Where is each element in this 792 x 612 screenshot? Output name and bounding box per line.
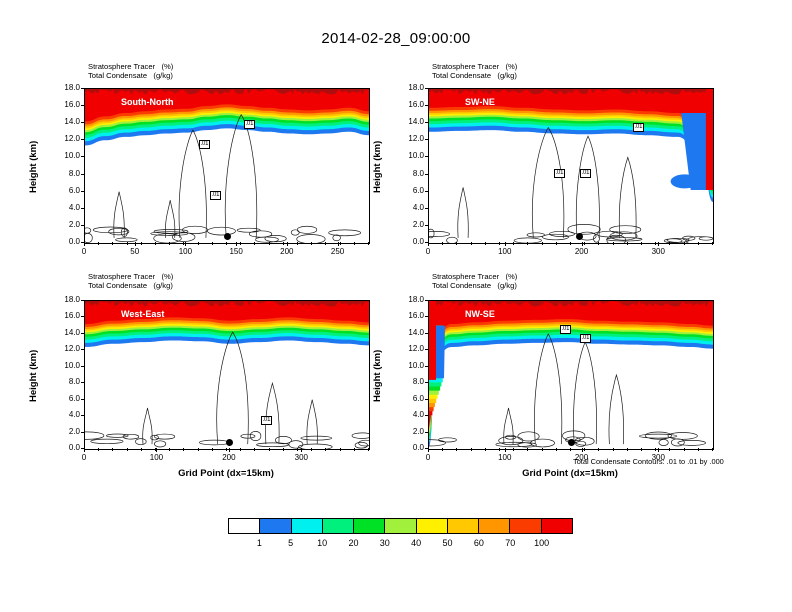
colorbar-label-1: 1 <box>246 538 272 548</box>
x-minor-tick <box>269 242 270 245</box>
contour-value-label: .01 <box>261 416 272 425</box>
orientation-label-west-east: West-East <box>121 309 164 319</box>
y-tick-label: 14.0 <box>390 117 424 126</box>
y-tick-mark <box>81 382 85 383</box>
condensate-contour-tower <box>534 334 561 444</box>
x-minor-tick <box>485 448 486 451</box>
x-minor-tick <box>84 448 85 451</box>
colorbar-label-5: 5 <box>278 538 304 548</box>
x-minor-tick <box>613 242 614 245</box>
y-tick-mark <box>425 191 429 192</box>
x-minor-tick <box>698 242 699 245</box>
y-tick-mark <box>425 333 429 334</box>
x-minor-tick <box>655 448 656 451</box>
y-tick-label: 10.0 <box>390 151 424 160</box>
y-tick-label: 6.0 <box>390 186 424 195</box>
field-label-tracer: Stratosphere Tracer (%) <box>432 62 517 71</box>
x-minor-tick <box>641 448 642 451</box>
low-tracer-pocket <box>671 174 699 188</box>
x-minor-tick <box>155 448 156 451</box>
tracer-field-south-north <box>85 89 369 243</box>
y-tick-mark <box>425 225 429 226</box>
x-tick-label: 100 <box>169 247 201 256</box>
y-tick-label: 18.0 <box>46 295 80 304</box>
y-tick-mark <box>81 88 85 89</box>
y-tick-label: 8.0 <box>46 169 80 178</box>
x-minor-tick <box>442 448 443 451</box>
condensate-contour-low <box>85 226 361 243</box>
x-tick-label: 0 <box>412 453 444 462</box>
colorbar-cell-10 <box>542 519 572 533</box>
y-tick-mark <box>81 122 85 123</box>
x-minor-tick <box>354 242 355 245</box>
contour-interval-note: Total Condensate Contours: .01 to .01 by… <box>573 457 724 466</box>
x-minor-tick <box>368 448 369 451</box>
x-minor-tick <box>712 242 713 245</box>
y-tick-label: 12.0 <box>46 344 80 353</box>
tracer-field-west-east <box>85 301 369 449</box>
colorbar-label-70: 70 <box>497 538 523 548</box>
y-tick-label: 0.0 <box>46 237 80 246</box>
panel-header-south-north: Stratosphere Tracer (%)Total Condensate … <box>88 62 173 81</box>
y-tick-label: 2.0 <box>46 427 80 436</box>
condensate-contour-tower <box>458 187 469 238</box>
colorbar-cell-6 <box>417 519 448 533</box>
colorbar-label-20: 20 <box>341 538 367 548</box>
intrusion-core <box>706 89 713 190</box>
y-tick-label: 0.0 <box>390 443 424 452</box>
y-tick-label: 8.0 <box>390 169 424 178</box>
x-minor-tick <box>584 448 585 451</box>
x-minor-tick <box>183 448 184 451</box>
cross-section-center-marker <box>576 233 583 240</box>
y-tick-label: 10.0 <box>390 361 424 370</box>
y-tick-mark <box>81 349 85 350</box>
colorbar-cell-0 <box>229 519 260 533</box>
x-minor-tick <box>226 448 227 451</box>
condensate-contour-tower <box>576 136 599 238</box>
contour-value-label: .01 <box>633 123 644 132</box>
x-minor-tick <box>513 242 514 245</box>
x-tick-mark <box>287 242 288 246</box>
condensate-contour-tower <box>532 128 564 238</box>
y-tick-label: 16.0 <box>390 100 424 109</box>
y-tick-label: 16.0 <box>46 311 80 320</box>
y-tick-mark <box>81 432 85 433</box>
condensate-contour-tower <box>307 400 318 444</box>
x-minor-tick <box>641 242 642 245</box>
colorbar-label-50: 50 <box>435 538 461 548</box>
y-tick-mark <box>425 415 429 416</box>
y-tick-mark <box>81 174 85 175</box>
y-tick-label: 0.0 <box>46 443 80 452</box>
x-minor-tick <box>112 448 113 451</box>
y-tick-mark <box>425 432 429 433</box>
x-tick-label: 200 <box>271 247 303 256</box>
x-minor-tick <box>556 242 557 245</box>
y-tick-label: 12.0 <box>390 134 424 143</box>
y-tick-mark <box>81 316 85 317</box>
contour-value-label: .01 <box>580 334 591 343</box>
plot-area-south-north: South-North.01.01.01 <box>84 88 370 244</box>
x-minor-tick <box>325 448 326 451</box>
plot-area-west-east: West-East.01 <box>84 300 370 450</box>
x-minor-tick <box>297 242 298 245</box>
tracer-wall-core <box>429 301 436 380</box>
condensate-contour-low <box>429 431 706 447</box>
x-minor-tick <box>527 448 528 451</box>
orientation-label-south-north: South-North <box>121 97 173 107</box>
colorbar-label-10: 10 <box>309 538 335 548</box>
field-label-condensate: Total Condensate (g/kg) <box>432 281 517 290</box>
y-tick-label: 14.0 <box>390 328 424 337</box>
condensate-contour-tower <box>114 192 125 238</box>
condensate-contour-tower <box>165 200 174 238</box>
y-tick-label: 6.0 <box>390 394 424 403</box>
x-tick-label: 50 <box>119 247 151 256</box>
contour-value-label: .01 <box>554 169 565 178</box>
y-tick-label: 10.0 <box>46 361 80 370</box>
condensate-contour-tower <box>609 375 624 444</box>
x-minor-tick <box>112 242 113 245</box>
field-label-condensate: Total Condensate (g/kg) <box>88 281 173 290</box>
field-label-tracer: Stratosphere Tracer (%) <box>88 62 173 71</box>
x-tick-label: 200 <box>213 453 245 462</box>
y-tick-label: 12.0 <box>390 344 424 353</box>
x-minor-tick <box>254 448 255 451</box>
y-axis-title: Height (km) <box>28 141 39 193</box>
condensate-contour-tower <box>265 383 279 444</box>
x-tick-label: 0 <box>68 247 100 256</box>
x-minor-tick <box>325 242 326 245</box>
x-minor-tick <box>354 448 355 451</box>
page-title: 2014-02-28_09:00:00 <box>0 30 792 47</box>
x-minor-tick <box>340 448 341 451</box>
x-minor-tick <box>456 242 457 245</box>
colorbar-cell-3 <box>323 519 354 533</box>
plot-area-nw-se: NW-SE.01.01 <box>428 300 714 450</box>
condensate-contour-tower <box>504 408 513 444</box>
y-axis-title: Height (km) <box>372 350 383 402</box>
y-tick-mark <box>81 415 85 416</box>
colorbar-cell-4 <box>354 519 385 533</box>
colorbar-label-40: 40 <box>403 538 429 548</box>
x-tick-mark <box>658 242 659 246</box>
x-tick-label: 0 <box>68 453 100 462</box>
y-tick-mark <box>81 333 85 334</box>
x-tick-mark <box>582 242 583 246</box>
x-minor-tick <box>584 242 585 245</box>
y-tick-mark <box>425 399 429 400</box>
y-axis-title: Height (km) <box>372 141 383 193</box>
x-minor-tick <box>212 242 213 245</box>
x-minor-tick <box>627 242 628 245</box>
x-tick-mark <box>185 242 186 246</box>
y-tick-mark <box>425 105 429 106</box>
x-minor-tick <box>442 242 443 245</box>
x-tick-mark <box>229 448 230 452</box>
x-tick-label: 100 <box>489 453 521 462</box>
orientation-label-nw-se: NW-SE <box>465 309 495 319</box>
y-tick-mark <box>81 300 85 301</box>
x-tick-mark <box>582 448 583 452</box>
x-axis-title: Grid Point (dx=15km) <box>84 468 368 479</box>
x-minor-tick <box>226 242 227 245</box>
x-minor-tick <box>428 448 429 451</box>
x-tick-mark <box>505 242 506 246</box>
x-minor-tick <box>598 448 599 451</box>
x-minor-tick <box>570 242 571 245</box>
y-tick-label: 4.0 <box>46 410 80 419</box>
x-minor-tick <box>712 448 713 451</box>
x-minor-tick <box>311 448 312 451</box>
colorbar: 1510203040506070100 <box>228 518 573 548</box>
x-minor-tick <box>513 448 514 451</box>
y-tick-mark <box>425 88 429 89</box>
x-minor-tick <box>141 448 142 451</box>
panel-header-nw-se: Stratosphere Tracer (%)Total Condensate … <box>432 272 517 291</box>
cross-section-center-marker <box>224 233 231 240</box>
y-tick-label: 18.0 <box>390 83 424 92</box>
x-minor-tick <box>311 242 312 245</box>
panel-header-sw-ne: Stratosphere Tracer (%)Total Condensate … <box>432 62 517 81</box>
y-tick-mark <box>81 366 85 367</box>
y-tick-label: 2.0 <box>390 220 424 229</box>
x-minor-tick <box>570 448 571 451</box>
y-tick-label: 14.0 <box>46 117 80 126</box>
x-minor-tick <box>169 242 170 245</box>
x-minor-tick <box>542 448 543 451</box>
x-minor-tick <box>283 448 284 451</box>
y-tick-label: 2.0 <box>390 427 424 436</box>
panel-header-west-east: Stratosphere Tracer (%)Total Condensate … <box>88 272 173 291</box>
colorbar-swatches <box>228 518 573 534</box>
colorbar-cell-9 <box>510 519 541 533</box>
colorbar-cell-8 <box>479 519 510 533</box>
orientation-label-sw-ne: SW-NE <box>465 97 495 107</box>
y-tick-mark <box>425 349 429 350</box>
x-minor-tick <box>684 448 685 451</box>
y-tick-mark <box>425 366 429 367</box>
tracer-field-nw-se <box>429 301 713 449</box>
x-minor-tick <box>183 242 184 245</box>
y-tick-mark <box>425 174 429 175</box>
y-tick-label: 6.0 <box>46 186 80 195</box>
x-tick-label: 300 <box>285 453 317 462</box>
y-tick-mark <box>425 139 429 140</box>
x-minor-tick <box>499 448 500 451</box>
y-tick-label: 0.0 <box>390 237 424 246</box>
condensate-contour-tower <box>217 332 249 444</box>
x-minor-tick <box>598 242 599 245</box>
x-minor-tick <box>240 448 241 451</box>
colorbar-cell-7 <box>448 519 479 533</box>
x-minor-tick <box>698 448 699 451</box>
contour-value-label: .01 <box>199 140 210 149</box>
x-tick-mark <box>658 448 659 452</box>
x-minor-tick <box>240 242 241 245</box>
y-tick-label: 4.0 <box>46 203 80 212</box>
y-tick-mark <box>81 208 85 209</box>
colorbar-tick-labels: 1510203040506070100 <box>228 534 573 548</box>
x-tick-label: 300 <box>642 247 674 256</box>
colorbar-cell-2 <box>292 519 323 533</box>
x-minor-tick <box>340 242 341 245</box>
y-tick-label: 10.0 <box>46 151 80 160</box>
x-minor-tick <box>613 448 614 451</box>
field-label-condensate: Total Condensate (g/kg) <box>88 71 173 80</box>
x-minor-tick <box>669 242 670 245</box>
y-tick-label: 16.0 <box>46 100 80 109</box>
y-tick-mark <box>81 105 85 106</box>
field-label-tracer: Stratosphere Tracer (%) <box>432 272 517 281</box>
x-minor-tick <box>499 242 500 245</box>
x-minor-tick <box>198 448 199 451</box>
y-tick-mark <box>425 382 429 383</box>
y-tick-label: 8.0 <box>390 377 424 386</box>
x-minor-tick <box>98 448 99 451</box>
x-minor-tick <box>155 242 156 245</box>
condensate-contour-tower <box>573 342 596 444</box>
x-tick-label: 150 <box>220 247 252 256</box>
condensate-contour-tower <box>225 115 257 238</box>
y-tick-label: 18.0 <box>390 295 424 304</box>
x-tick-label: 0 <box>412 247 444 256</box>
contour-value-label: .01 <box>560 325 571 334</box>
colorbar-cell-5 <box>385 519 416 533</box>
x-minor-tick <box>428 242 429 245</box>
contour-value-label: .01 <box>580 169 591 178</box>
x-tick-label: 200 <box>566 247 598 256</box>
x-minor-tick <box>212 448 213 451</box>
colorbar-label-60: 60 <box>466 538 492 548</box>
colorbar-label-30: 30 <box>372 538 398 548</box>
y-tick-mark <box>425 316 429 317</box>
y-tick-mark <box>81 399 85 400</box>
x-minor-tick <box>127 242 128 245</box>
y-tick-mark <box>425 208 429 209</box>
x-tick-label: 100 <box>489 247 521 256</box>
x-minor-tick <box>84 242 85 245</box>
y-tick-mark <box>425 300 429 301</box>
y-tick-label: 18.0 <box>46 83 80 92</box>
x-minor-tick <box>456 448 457 451</box>
x-tick-mark <box>338 242 339 246</box>
x-tick-mark <box>301 448 302 452</box>
x-tick-label: 100 <box>140 453 172 462</box>
x-minor-tick <box>684 242 685 245</box>
x-minor-tick <box>485 242 486 245</box>
plot-area-sw-ne: SW-NE.01.01.01 <box>428 88 714 244</box>
y-tick-mark <box>81 156 85 157</box>
colorbar-cell-1 <box>260 519 291 533</box>
y-tick-label: 14.0 <box>46 328 80 337</box>
y-tick-label: 2.0 <box>46 220 80 229</box>
y-tick-label: 6.0 <box>46 394 80 403</box>
x-tick-mark <box>135 242 136 246</box>
x-minor-tick <box>669 448 670 451</box>
x-minor-tick <box>283 242 284 245</box>
x-tick-mark <box>505 448 506 452</box>
contour-value-label: .01 <box>244 120 255 129</box>
field-label-tracer: Stratosphere Tracer (%) <box>88 272 173 281</box>
x-minor-tick <box>98 242 99 245</box>
y-tick-mark <box>425 156 429 157</box>
x-minor-tick <box>141 242 142 245</box>
condensate-contour-low <box>429 224 713 243</box>
x-minor-tick <box>655 242 656 245</box>
colorbar-label-100: 100 <box>529 538 555 548</box>
x-tick-mark <box>236 242 237 246</box>
y-tick-label: 4.0 <box>390 410 424 419</box>
x-minor-tick <box>471 242 472 245</box>
x-minor-tick <box>198 242 199 245</box>
x-minor-tick <box>254 242 255 245</box>
y-tick-mark <box>81 139 85 140</box>
contour-value-label: .01 <box>210 191 221 200</box>
x-minor-tick <box>527 242 528 245</box>
x-minor-tick <box>627 448 628 451</box>
y-tick-mark <box>81 191 85 192</box>
x-minor-tick <box>542 242 543 245</box>
x-minor-tick <box>269 448 270 451</box>
x-minor-tick <box>127 448 128 451</box>
y-tick-label: 4.0 <box>390 203 424 212</box>
x-axis-title: Grid Point (dx=15km) <box>428 468 712 479</box>
x-minor-tick <box>556 448 557 451</box>
x-tick-mark <box>156 448 157 452</box>
y-tick-mark <box>425 122 429 123</box>
x-minor-tick <box>471 448 472 451</box>
y-tick-mark <box>81 225 85 226</box>
y-tick-label: 16.0 <box>390 311 424 320</box>
tracer-field-sw-ne <box>429 89 713 243</box>
y-tick-label: 12.0 <box>46 134 80 143</box>
x-minor-tick <box>169 448 170 451</box>
x-tick-label: 250 <box>322 247 354 256</box>
x-minor-tick <box>297 448 298 451</box>
field-label-condensate: Total Condensate (g/kg) <box>432 71 517 80</box>
x-minor-tick <box>368 242 369 245</box>
y-tick-label: 8.0 <box>46 377 80 386</box>
y-axis-title: Height (km) <box>28 350 39 402</box>
